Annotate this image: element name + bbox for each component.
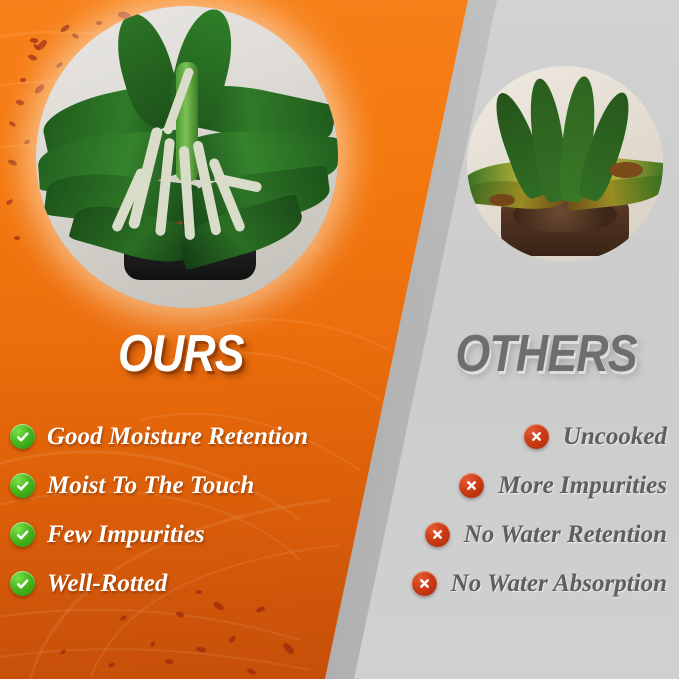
cross-circle-icon xyxy=(459,473,484,498)
list-item-label: Uncooked xyxy=(563,423,667,451)
list-item-label: Moist To The Touch xyxy=(47,472,254,500)
list-item: Moist To The Touch xyxy=(10,461,380,510)
cross-circle-icon xyxy=(524,424,549,449)
ours-plant-photo xyxy=(36,6,338,308)
others-title: OTHERS xyxy=(456,326,637,382)
list-item-label: Few Impurities xyxy=(47,521,205,549)
list-item: Well-Rotted xyxy=(10,559,380,608)
ours-title: OURS xyxy=(118,326,244,382)
comparison-infographic: OURS OTHERS Good Moisture Retention Mois… xyxy=(0,0,679,679)
others-plant-photo xyxy=(467,66,663,262)
list-item: Uncooked xyxy=(327,412,667,461)
list-item-label: No Water Retention xyxy=(464,521,667,549)
list-item: Few Impurities xyxy=(10,510,380,559)
list-item: No Water Retention xyxy=(327,510,667,559)
others-drawback-list: Uncooked More Impurities No Water Retent… xyxy=(327,412,667,608)
check-circle-icon xyxy=(10,473,35,498)
cross-circle-icon xyxy=(425,522,450,547)
cross-circle-icon xyxy=(412,571,437,596)
list-item-label: No Water Absorption xyxy=(451,570,667,598)
list-item-label: Good Moisture Retention xyxy=(47,423,308,451)
list-item-label: Well-Rotted xyxy=(47,570,167,598)
leaf-damage-spot xyxy=(609,162,643,178)
check-circle-icon xyxy=(10,424,35,449)
list-item: Good Moisture Retention xyxy=(10,412,380,461)
leaf-damage-spot xyxy=(489,194,515,206)
ours-feature-list: Good Moisture Retention Moist To The Tou… xyxy=(10,412,380,608)
list-item-label: More Impurities xyxy=(498,472,667,500)
check-circle-icon xyxy=(10,571,35,596)
list-item: No Water Absorption xyxy=(327,559,667,608)
check-circle-icon xyxy=(10,522,35,547)
list-item: More Impurities xyxy=(327,461,667,510)
